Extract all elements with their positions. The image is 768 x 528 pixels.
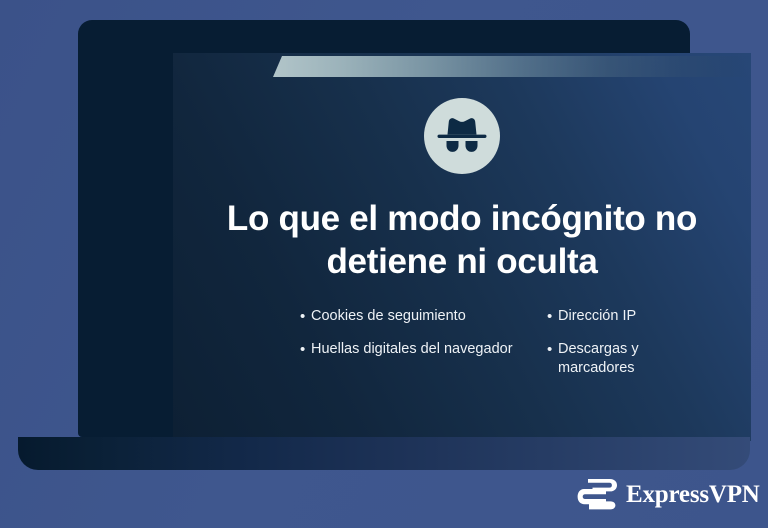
expressvpn-e-mark-icon (576, 477, 618, 511)
bullet-dot-icon: • (547, 340, 558, 359)
laptop-illustration: Lo que el modo incógnito no detiene ni o… (0, 0, 768, 528)
list-item: • Cookies de seguimiento (300, 307, 547, 326)
bullet-dot-icon: • (300, 340, 311, 359)
list-item: • Descargas y marcadores (547, 340, 714, 378)
bullet-columns: • Cookies de seguimiento • Huellas digit… (210, 307, 714, 392)
list-item: • Dirección IP (547, 307, 714, 326)
page-title: Lo que el modo incógnito no detiene ni o… (202, 197, 722, 283)
page-title-line-2: detiene ni oculta (202, 240, 722, 283)
list-item-label: Cookies de seguimiento (311, 307, 547, 326)
page-title-line-1: Lo que el modo incógnito no (202, 197, 722, 240)
laptop-base (18, 437, 750, 470)
laptop-screen: Lo que el modo incógnito no detiene ni o… (173, 53, 751, 441)
bullet-dot-icon: • (300, 307, 311, 326)
expressvpn-wordmark: ExpressVPN (626, 482, 760, 507)
bullet-column-left: • Cookies de seguimiento • Huellas digit… (300, 307, 547, 373)
slide-content: Lo que el modo incógnito no detiene ni o… (173, 53, 751, 441)
list-item-label: Dirección IP (558, 307, 714, 326)
bullet-column-right: • Dirección IP • Descargas y marcadores (547, 307, 714, 392)
incognito-icon (423, 97, 501, 175)
expressvpn-logo: ExpressVPN (576, 474, 760, 514)
list-item: • Huellas digitales del navegador (300, 340, 547, 359)
bullet-dot-icon: • (547, 307, 558, 326)
list-item-label: Descargas y marcadores (558, 340, 714, 378)
laptop-bezel: Lo que el modo incógnito no detiene ni o… (78, 20, 690, 437)
list-item-label: Huellas digitales del navegador (311, 340, 547, 359)
